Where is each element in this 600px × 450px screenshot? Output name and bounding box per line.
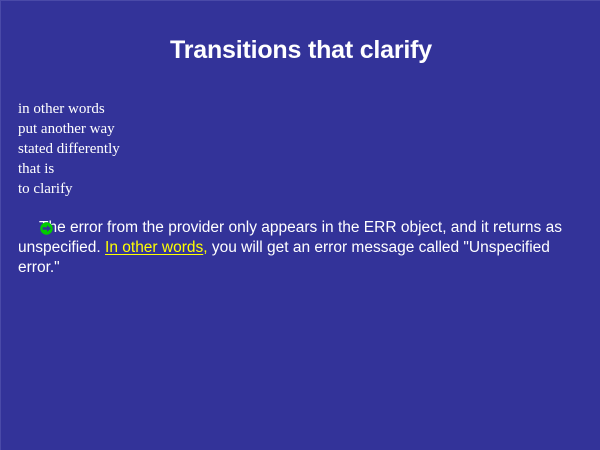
list-item: stated differently [18, 139, 120, 159]
in-other-words-link[interactable]: In other words [105, 239, 203, 256]
transition-phrase-list: in other words put another way stated di… [18, 99, 120, 199]
green-circle-right-arrow-icon [19, 221, 32, 234]
list-item: to clarify [18, 179, 120, 199]
page-title: Transitions that clarify [1, 35, 600, 65]
list-item: that is [18, 159, 120, 179]
list-item: put another way [18, 119, 120, 139]
list-item: in other words [18, 99, 120, 119]
presentation-slide: Transitions that clarify in other words … [0, 0, 600, 450]
body-content-block: The error from the provider only appears… [18, 218, 584, 278]
body-paragraph: The error from the provider only appears… [18, 218, 584, 278]
